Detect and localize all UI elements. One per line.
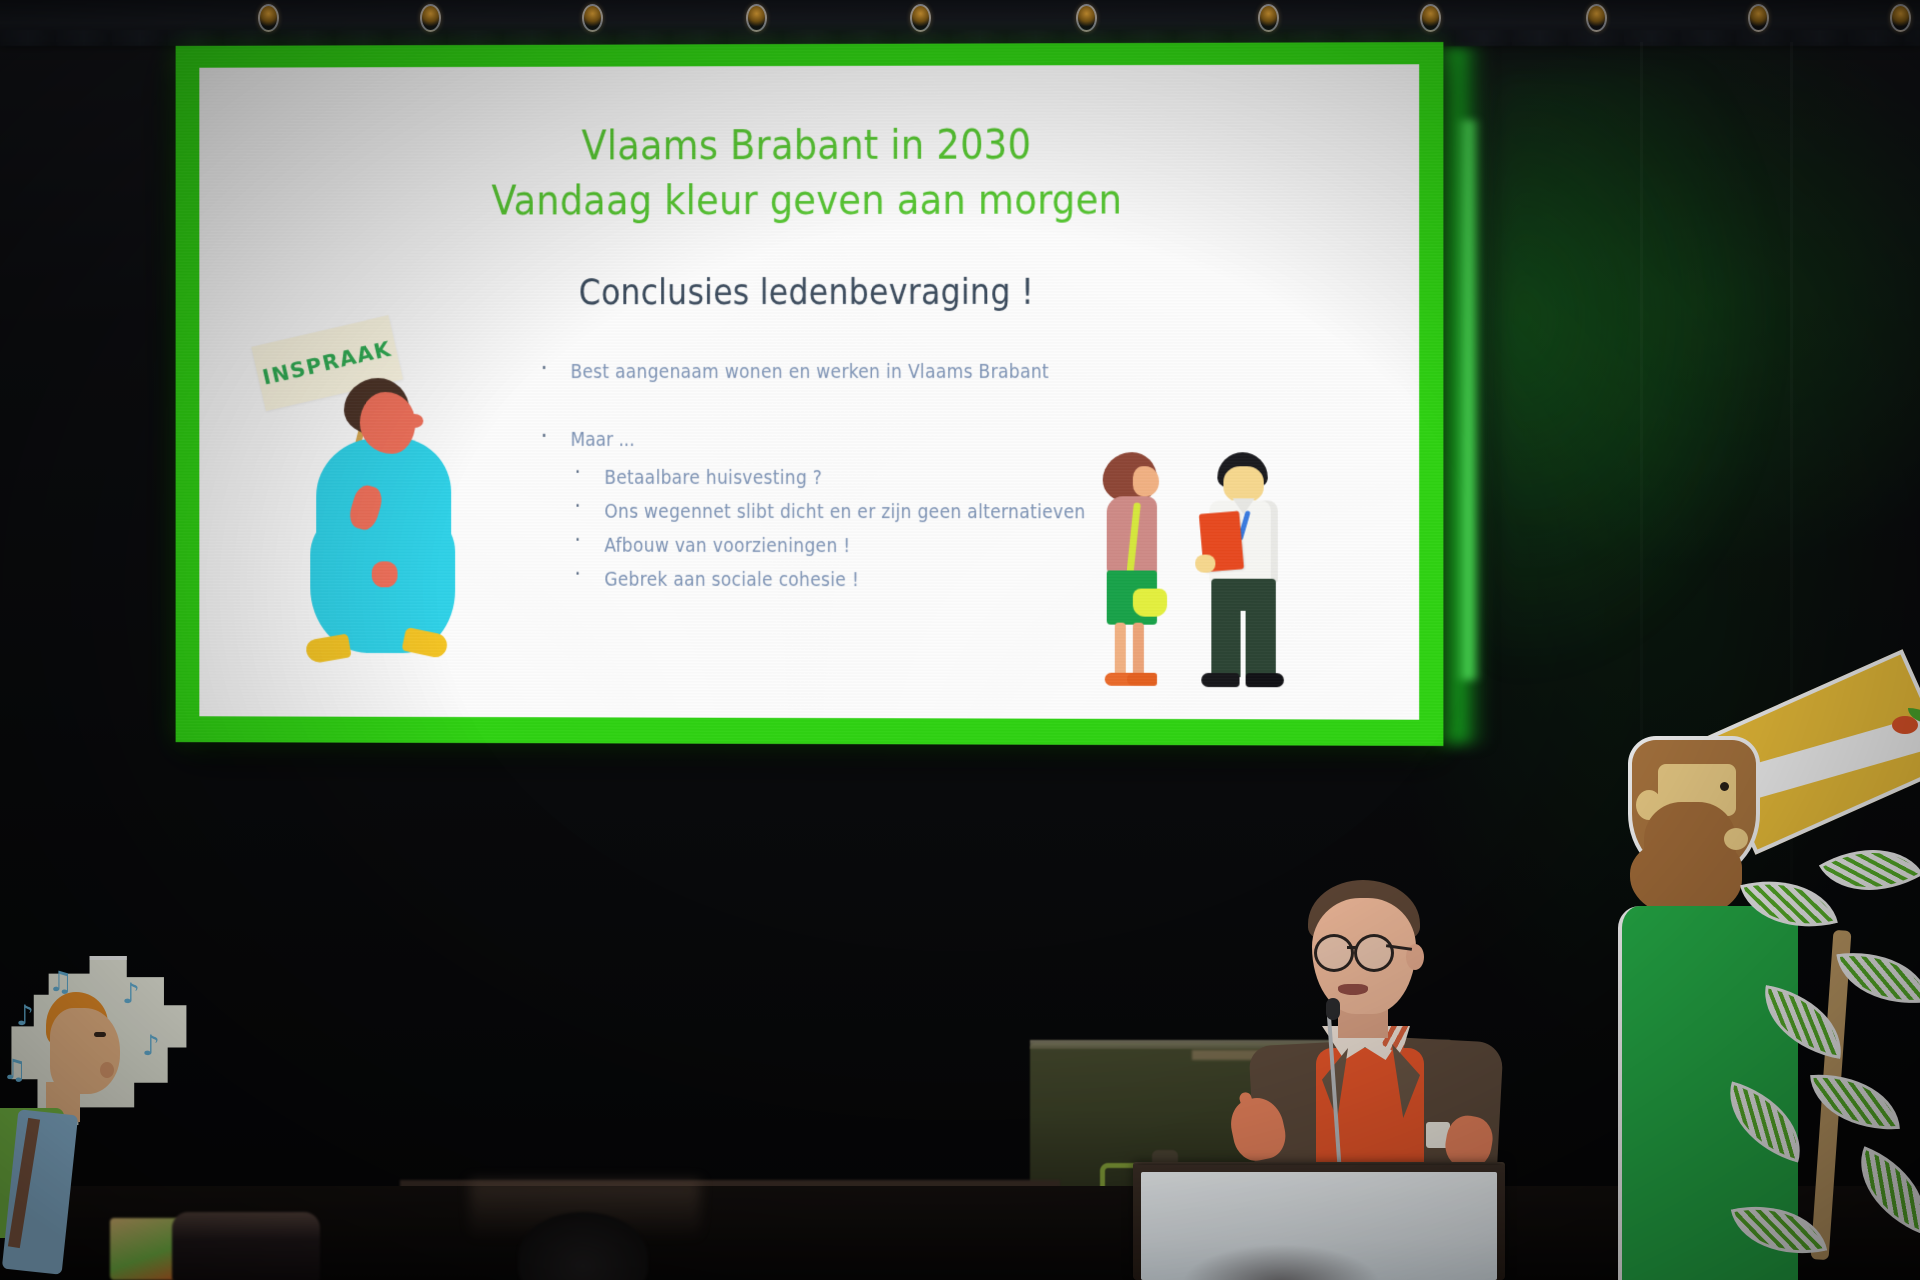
speaker-mouth <box>1338 984 1368 995</box>
presentation-slide: Vlaams Brabant in 2030 Vandaag kleur gev… <box>199 64 1419 719</box>
man-hand <box>1195 555 1215 573</box>
man-shoe <box>1246 673 1284 687</box>
music-note-icon: ♪ <box>142 1032 160 1060</box>
man-leg-gap <box>1241 611 1246 677</box>
two-people-illustration <box>1089 450 1300 701</box>
slide-title: Vlaams Brabant in 2030 Vandaag kleur gev… <box>199 117 1419 230</box>
audience-chair <box>172 1212 320 1280</box>
woman-face <box>1133 466 1159 496</box>
grommet-icon <box>1258 4 1279 32</box>
woman-leg <box>1115 623 1126 677</box>
grommet-icon <box>1420 4 1441 32</box>
man-face <box>1223 466 1263 502</box>
cutout-boy-eye <box>94 1032 106 1037</box>
figure-hand <box>372 561 398 587</box>
figure-shoe <box>305 633 352 664</box>
glasses-bridge <box>1347 946 1356 949</box>
glasses-icon <box>1314 934 1354 972</box>
green-light-streak-core <box>1455 120 1481 680</box>
projection-screen: Vlaams Brabant in 2030 Vandaag kleur gev… <box>176 42 1444 746</box>
grommet-icon <box>1890 4 1911 32</box>
figure-nose <box>405 414 423 428</box>
slide-title-line2: Vandaag kleur geven aan morgen <box>199 172 1419 229</box>
grommet-icon <box>1076 4 1097 32</box>
protest-figure-illustration: INSPRAAK <box>257 326 455 675</box>
cutout-man-lip <box>1724 828 1748 850</box>
grommet-icon <box>910 4 931 32</box>
bullet-item: Best aangenaam wonen en werken in Vlaams… <box>527 361 1248 383</box>
small-cutout-edge <box>110 1218 180 1280</box>
grommet-icon <box>258 4 279 32</box>
grommet-icon <box>746 4 767 32</box>
grommet-icon <box>420 4 441 32</box>
woman-handbag <box>1133 589 1167 617</box>
leaf-icon <box>1842 1146 1920 1234</box>
microphone-icon <box>1326 998 1340 1020</box>
woman-shoe <box>1127 673 1157 686</box>
confidence-monitor <box>1141 1172 1497 1280</box>
music-note-icon: ♪ <box>122 980 140 1008</box>
slide-title-line1: Vlaams Brabant in 2030 <box>582 120 1032 169</box>
glasses-icon <box>1354 934 1394 972</box>
bullet-item: Maar ... <box>527 429 1248 451</box>
man-shoe <box>1201 673 1239 687</box>
grommet-icon <box>582 4 603 32</box>
conference-stage-photo: Vlaams Brabant in 2030 Vandaag kleur gev… <box>0 0 1920 1280</box>
bearded-man-cutout <box>1596 680 1920 1280</box>
leaf-icon <box>1819 823 1920 918</box>
music-note-icon: ♫ <box>2 1056 27 1084</box>
cutout-man-eye <box>1720 782 1729 791</box>
grommet-icon <box>1748 4 1769 32</box>
music-note-icon: ♪ <box>16 1002 34 1030</box>
slide-subtitle: Conclusies ledenbevraging ! <box>199 272 1419 313</box>
woman-leg <box>1133 623 1144 677</box>
grommet-icon <box>1586 4 1607 32</box>
cutout-boy-mouth <box>100 1062 114 1078</box>
leaf-icon <box>1836 942 1920 1013</box>
speaker-figure <box>1230 880 1520 1180</box>
